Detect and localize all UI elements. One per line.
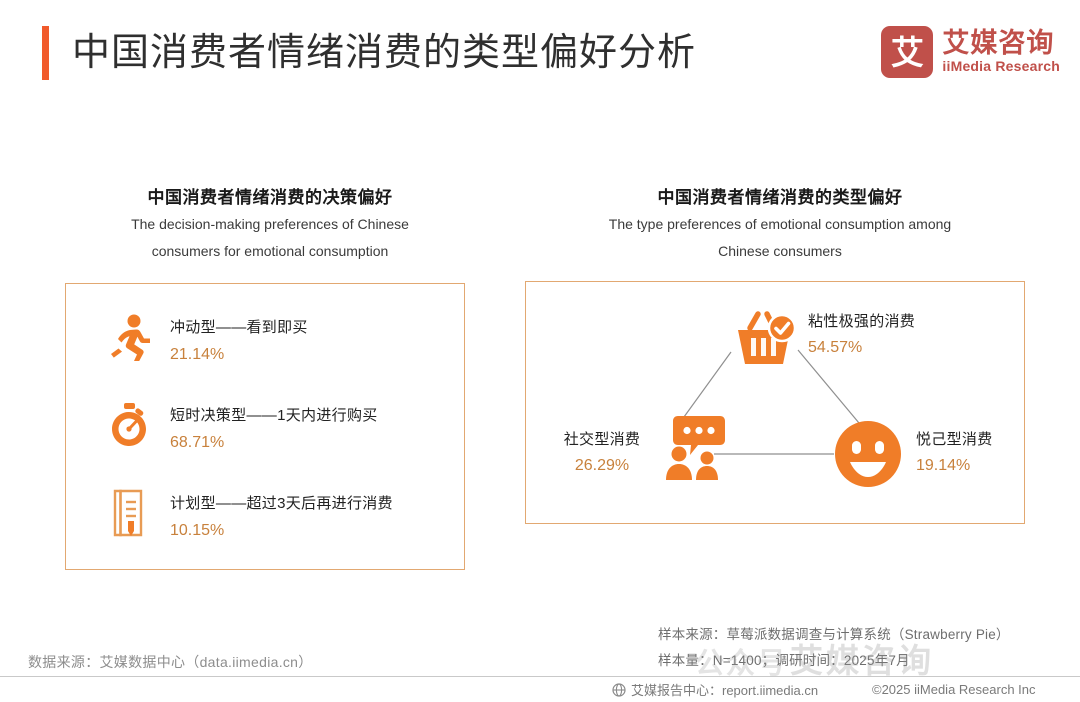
list-item: 冲动型——看到即买 21.14% (66, 310, 464, 398)
page-header: 中国消费者情绪消费的类型偏好分析 艾 艾媒咨询 iiMedia Research (0, 0, 1080, 110)
list-item-value: 68.71% (170, 428, 378, 458)
left-panel-title-cn: 中国消费者情绪消费的决策偏好 (40, 185, 500, 211)
right-panel-title-en-line1: The type preferences of emotional consum… (520, 211, 1040, 238)
logo-english-name: iiMedia Research (942, 57, 1060, 75)
logo-text-group: 艾媒咨询 iiMedia Research (942, 29, 1060, 76)
brand-logo: 艾 艾媒咨询 iiMedia Research (881, 26, 1060, 78)
type-preference-card: 粘性极强的消费 54.57% 社交型消费 26.29% (525, 281, 1025, 524)
node-value-text: 54.57% (808, 334, 915, 361)
decision-preference-card: 冲动型——看到即买 21.14% 短时决策型——1天内进行购买 (65, 283, 465, 570)
list-item: 短时决策型——1天内进行购买 68.71% (66, 398, 464, 486)
sample-info-block: 样本来源：草莓派数据调查与计算系统（Strawberry Pie） 样本量：N=… (658, 622, 1010, 674)
running-person-icon (106, 310, 152, 364)
node-label-text: 粘性极强的消费 (808, 310, 915, 334)
node-label-text: 悦己型消费 (916, 428, 993, 452)
report-center-text: 艾媒报告中心：report.iimedia.cn (631, 680, 818, 699)
checklist-document-icon (106, 486, 152, 540)
sample-size-note: 样本量：N=1400；调研时间：2025年7月 (658, 648, 1010, 674)
title-accent-bar (42, 26, 49, 80)
list-item-label: 短时决策型——1天内进行购买 (170, 404, 378, 428)
list-item-value: 10.15% (170, 516, 393, 546)
footer-bar: 艾媒报告中心：report.iimedia.cn ©2025 iiMedia R… (0, 677, 1080, 702)
decision-preference-panel: 中国消费者情绪消费的决策偏好 The decision-making prefe… (40, 185, 500, 265)
right-panel-title-en-line2: Chinese consumers (520, 238, 1040, 265)
social-chat-people-icon (662, 412, 734, 487)
node-label-text: 社交型消费 (552, 428, 652, 452)
list-item-label: 冲动型——看到即买 (170, 316, 308, 340)
stopwatch-icon (106, 398, 152, 452)
shopping-basket-check-icon (730, 306, 800, 381)
list-item-label: 计划型——超过3天后再进行消费 (170, 492, 393, 516)
data-source-note: 数据来源：艾媒数据中心（data.iimedia.cn） (28, 652, 313, 672)
node-value-text: 26.29% (552, 452, 652, 479)
sample-source-note: 样本来源：草莓派数据调查与计算系统（Strawberry Pie） (658, 622, 1010, 648)
left-panel-title-en-line1: The decision-making preferences of Chine… (40, 211, 500, 238)
logo-chinese-name: 艾媒咨询 (942, 29, 1060, 57)
list-item-text: 短时决策型——1天内进行购买 68.71% (170, 398, 378, 458)
node-label-right: 悦己型消费 19.14% (916, 428, 993, 479)
left-panel-title-en-line2: consumers for emotional consumption (40, 238, 500, 265)
type-preference-panel: 中国消费者情绪消费的类型偏好 The type preferences of e… (520, 185, 1040, 265)
report-center-link[interactable]: 艾媒报告中心：report.iimedia.cn (612, 680, 818, 699)
iimedia-logo-icon: 艾 (881, 26, 933, 78)
copyright-text: ©2025 iiMedia Research Inc (872, 682, 1036, 697)
node-label-top: 粘性极强的消费 54.57% (808, 310, 915, 361)
list-item-text: 计划型——超过3天后再进行消费 10.15% (170, 486, 393, 546)
page-title: 中国消费者情绪消费的类型偏好分析 (72, 24, 696, 82)
list-item: 计划型——超过3天后再进行消费 10.15% (66, 486, 464, 574)
globe-icon (612, 683, 626, 697)
node-value-text: 19.14% (916, 452, 993, 479)
right-panel-title-cn: 中国消费者情绪消费的类型偏好 (520, 185, 1040, 211)
decision-preference-list: 冲动型——看到即买 21.14% 短时决策型——1天内进行购买 (66, 284, 464, 569)
list-item-text: 冲动型——看到即买 21.14% (170, 310, 308, 370)
list-item-value: 21.14% (170, 340, 308, 370)
smiley-face-icon (832, 418, 904, 495)
node-label-left: 社交型消费 26.29% (552, 428, 652, 479)
type-preference-triangle-diagram: 粘性极强的消费 54.57% 社交型消费 26.29% (526, 282, 1026, 525)
